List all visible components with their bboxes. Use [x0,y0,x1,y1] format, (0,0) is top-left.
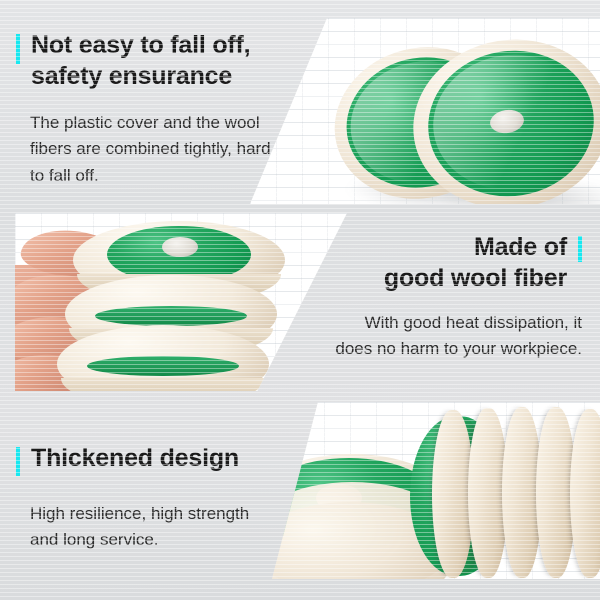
section-heading: Not easy to fall off, safety ensurance [31,30,250,91]
stacked-disc [57,325,269,391]
section-thickness: Thickened design High resilience, high s… [16,443,316,554]
section-heading-row: Not easy to fall off, safety ensurance [16,30,316,91]
accent-bar-icon [16,34,20,64]
accent-bar-icon [578,236,582,262]
section-heading: Made of good wool fiber [384,232,567,293]
section-safety: Not easy to fall off, safety ensurance T… [16,30,316,189]
section-body: High resilience, high strength and long … [30,501,316,554]
disc-felt-edge [61,378,265,391]
section-body: The plastic cover and the wool fibers ar… [30,110,316,189]
product-infographic-poster: Not easy to fall off, safety ensurance T… [0,0,600,600]
section-material: Made of good wool fiber With good heat d… [272,232,582,363]
section-heading-row: Made of good wool fiber [272,232,582,293]
section-heading: Thickened design [31,443,239,474]
section-body: With good heat dissipation, it does no h… [272,310,582,363]
product-photo-disc-row [272,402,600,579]
disc-center-hole [162,237,198,257]
section-heading-row: Thickened design [16,443,316,476]
disc-on-edge [570,409,600,578]
accent-bar-icon [16,447,20,476]
disc-scene-3 [272,402,600,579]
